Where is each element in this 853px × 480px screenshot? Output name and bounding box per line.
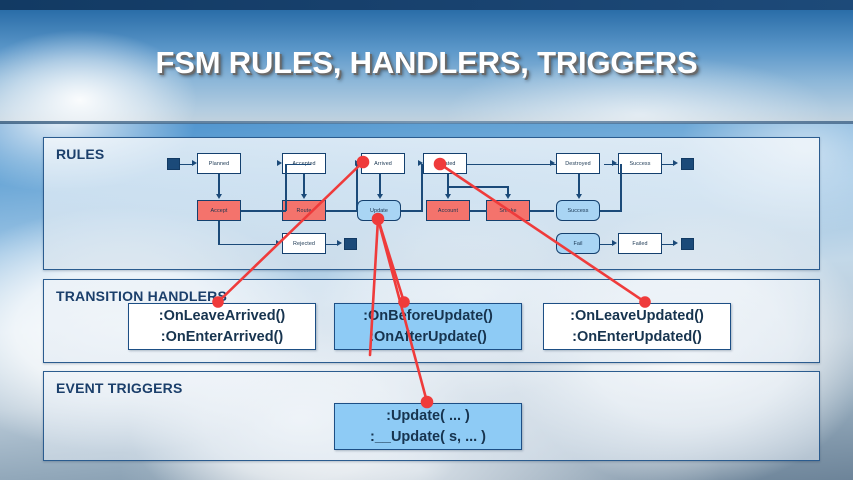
- arrow-failed-end: [673, 240, 678, 246]
- edge-accepted-route: [303, 174, 305, 194]
- fsm-node-updated-label: Updated: [434, 161, 455, 167]
- fsm-node-fail-action[interactable]: Fail: [556, 233, 600, 254]
- handler-box-updated[interactable]: :OnLeaveUpdated() :OnEnterUpdated(): [543, 303, 731, 350]
- fsm-node-accept[interactable]: Accept: [197, 200, 241, 221]
- edge-update-up: [421, 164, 423, 211]
- fsm-node-updated[interactable]: Updated: [423, 153, 467, 174]
- handler-arrived-line-1: :OnLeaveArrived(): [159, 306, 286, 327]
- page-title: FSM RULES, HANDLERS, TRIGGERS: [0, 45, 853, 81]
- fsm-node-failed[interactable]: Failed: [618, 233, 662, 254]
- edge-success-action-up: [620, 164, 622, 211]
- fsm-node-destroyed[interactable]: Destroyed: [556, 153, 600, 174]
- edge-route-up: [356, 164, 358, 211]
- arrow-accept-accepted: [277, 160, 282, 166]
- edge-account-smoke: [470, 210, 487, 212]
- arrow-planned-accept: [216, 194, 222, 199]
- handlers-section-title: TRANSITION HANDLERS: [56, 288, 227, 304]
- arrow-updated-smoke: [505, 194, 511, 199]
- arrow-update-updated: [418, 160, 423, 166]
- edge-arrived-update: [379, 174, 381, 194]
- arrow-arrived-update: [377, 194, 383, 199]
- fsm-node-accept-label: Accept: [210, 208, 227, 214]
- arrow-destroyed-success: [576, 194, 582, 199]
- fsm-node-planned-label: Planned: [209, 161, 229, 167]
- handler-arrived-line-2: :OnEnterArrived(): [161, 327, 283, 348]
- handler-updated-line-1: :OnLeaveUpdated(): [570, 306, 704, 327]
- fsm-end-marker-rejected: [344, 238, 357, 250]
- handler-updated-line-2: :OnEnterUpdated(): [572, 327, 702, 348]
- triggers-section-title: EVENT TRIGGERS: [56, 380, 182, 396]
- fsm-node-update[interactable]: Update: [357, 200, 401, 221]
- fsm-node-fail-action-label: Fail: [573, 241, 582, 247]
- edge-updated-smoke-h: [447, 186, 508, 188]
- trigger-update-line-2: :__Update( s, ... ): [370, 427, 486, 448]
- fsm-node-route[interactable]: Route: [282, 200, 326, 221]
- arrow-fail-failed: [612, 240, 617, 246]
- fsm-node-account[interactable]: Account: [426, 200, 470, 221]
- trigger-update-line-1: :Update( ... ): [386, 406, 470, 427]
- fsm-node-rejected[interactable]: Rejected: [282, 233, 326, 254]
- fsm-node-smoke-label: Smoke: [499, 208, 516, 214]
- arrow-updated-destroyed: [550, 160, 555, 166]
- fsm-node-rejected-label: Rejected: [293, 241, 315, 247]
- arrow-updated-account: [445, 194, 451, 199]
- fsm-node-arrived[interactable]: Arrived: [361, 153, 405, 174]
- fsm-node-planned[interactable]: Planned: [197, 153, 241, 174]
- fsm-node-destroyed-label: Destroyed: [565, 161, 590, 167]
- fsm-node-success-final-label: Success: [629, 161, 650, 167]
- edge-accept-out: [241, 210, 286, 212]
- fsm-node-success-action[interactable]: Success: [556, 200, 600, 221]
- arrow-accept-rejected: [276, 240, 281, 246]
- arrow-rejected-end: [337, 240, 342, 246]
- fsm-node-smoke[interactable]: Smoke: [486, 200, 530, 221]
- fsm-node-failed-label: Failed: [632, 241, 647, 247]
- rules-section-title: RULES: [56, 146, 104, 162]
- fsm-start-marker: [167, 158, 180, 170]
- arrow-accepted-route: [301, 194, 307, 199]
- handler-box-update[interactable]: :OnBeforeUpdate() :OnAfterUpdate(): [334, 303, 522, 350]
- fsm-end-marker-success: [681, 158, 694, 170]
- trigger-box-update[interactable]: :Update( ... ) :__Update( s, ... ): [334, 403, 522, 450]
- arrow-success-end: [673, 160, 678, 166]
- edge-update-out: [401, 210, 423, 212]
- edge-accept-accepted: [285, 164, 311, 166]
- edge-smoke-success: [530, 210, 554, 212]
- rules-panel: RULES Planned Accepted Arrived Updated D…: [43, 137, 820, 270]
- edge-accept-reject-v: [218, 221, 220, 244]
- edge-route-out: [326, 210, 358, 212]
- fsm-node-route-label: Route: [297, 208, 312, 214]
- arrow-route-arrived: [355, 160, 360, 166]
- edge-accept-up: [285, 164, 287, 211]
- edge-start-planned: [180, 164, 192, 166]
- edge-updated-destroyed: [467, 164, 557, 166]
- header-divider-line: [0, 121, 853, 124]
- edge-success-action-out: [600, 210, 622, 212]
- edge-updated-smoke-v2: [507, 186, 509, 194]
- fsm-node-arrived-label: Arrived: [374, 161, 392, 167]
- fsm-node-update-label: Update: [370, 208, 388, 214]
- edge-success-to-success: [604, 164, 618, 166]
- handler-update-line-1: :OnBeforeUpdate(): [363, 306, 493, 327]
- fsm-node-success-action-label: Success: [567, 208, 588, 214]
- slide-canvas: FSM RULES, HANDLERS, TRIGGERS RULES Plan…: [0, 0, 853, 480]
- handler-box-arrived[interactable]: :OnLeaveArrived() :OnEnterArrived(): [128, 303, 316, 350]
- edge-accept-reject-h: [218, 244, 278, 246]
- fsm-node-success-final[interactable]: Success: [618, 153, 662, 174]
- edge-planned-accept: [218, 174, 220, 194]
- edge-destroyed-success: [578, 174, 580, 194]
- handler-update-line-2: :OnAfterUpdate(): [369, 327, 487, 348]
- top-navy-strip: [0, 0, 853, 10]
- fsm-node-account-label: Account: [438, 208, 458, 214]
- fsm-end-marker-failed: [681, 238, 694, 250]
